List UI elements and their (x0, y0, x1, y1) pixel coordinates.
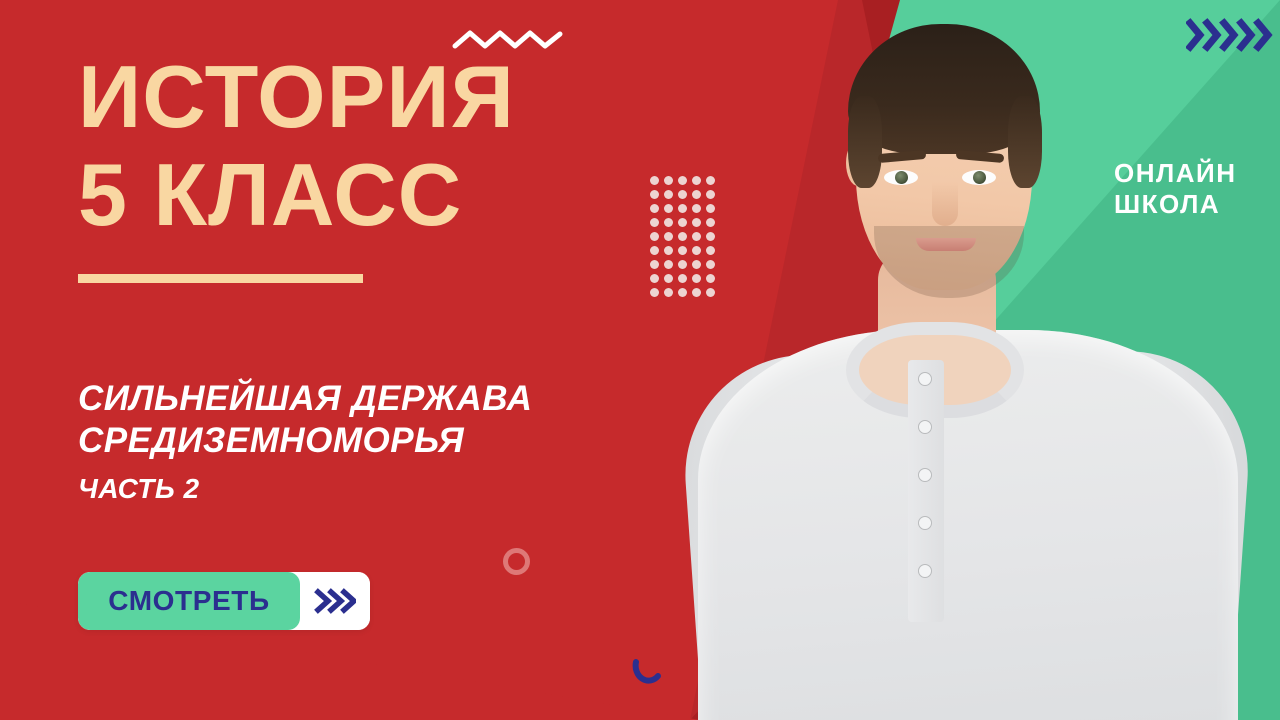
mouth (916, 238, 976, 251)
shirt-button (918, 420, 932, 434)
brand-label: ОНЛАЙН ШКОЛА (1114, 158, 1264, 219)
shirt-button (918, 564, 932, 578)
iris-right (973, 171, 986, 184)
shirt-button (918, 372, 932, 386)
iris-left (895, 171, 908, 184)
eye-right (962, 170, 996, 185)
page-title: ИСТОРИЯ 5 КЛАСС (78, 54, 698, 283)
shirt-placket (908, 360, 944, 622)
triple-chevron-right-icon[interactable] (300, 572, 370, 630)
watch-button-label[interactable]: СМОТРЕТЬ (78, 572, 300, 630)
hair-side-right (1008, 96, 1042, 188)
shirt-button (918, 468, 932, 482)
subtitle: СИЛЬНЕЙШАЯ ДЕРЖАВА СРЕДИЗЕМНОМОРЬЯ ЧАСТЬ… (78, 378, 778, 506)
hair-side-left (848, 96, 882, 188)
brand-line-2: ШКОЛА (1114, 189, 1264, 220)
chevron-right-icon (1186, 18, 1276, 52)
title-line-2: 5 КЛАСС (78, 152, 698, 238)
title-line-1: ИСТОРИЯ (78, 54, 698, 140)
video-thumbnail: ИСТОРИЯ 5 КЛАСС СИЛЬНЕЙШАЯ ДЕРЖАВА СРЕДИ… (0, 0, 1280, 720)
subtitle-line-1: СИЛЬНЕЙШАЯ ДЕРЖАВА (78, 378, 778, 420)
presenter-photo (650, 0, 1280, 720)
shirt-button (918, 516, 932, 530)
eye-left (884, 170, 918, 185)
subtitle-part: ЧАСТЬ 2 (78, 472, 778, 506)
u-arc-icon (630, 658, 664, 692)
subtitle-line-2: СРЕДИЗЕМНОМОРЬЯ (78, 420, 778, 462)
brand-line-1: ОНЛАЙН (1114, 158, 1264, 189)
circle-outline-icon (503, 548, 530, 575)
watch-button[interactable]: СМОТРЕТЬ (78, 572, 370, 630)
nose (932, 182, 958, 226)
title-underline (78, 274, 363, 283)
